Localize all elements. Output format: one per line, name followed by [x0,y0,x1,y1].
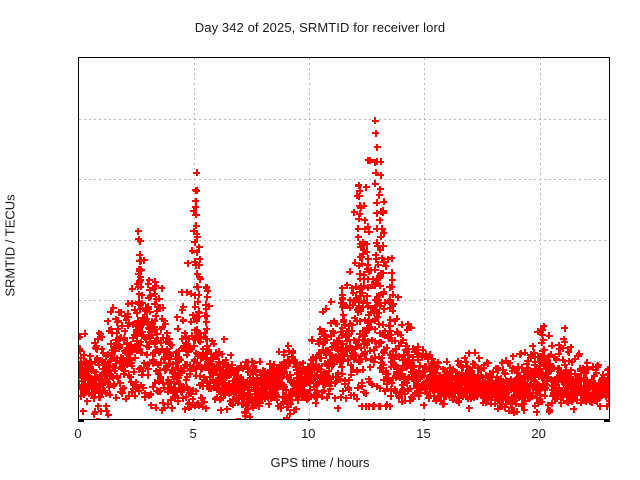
data-point [300,376,307,383]
data-point [476,383,483,390]
data-point [512,378,519,385]
data-point [147,293,154,300]
data-point [458,392,465,399]
data-point [537,357,544,364]
data-point [522,394,529,401]
data-point [519,379,526,386]
data-point [127,357,134,364]
data-point [479,386,486,393]
data-point [422,367,429,374]
data-point [414,356,421,363]
data-point [212,353,219,360]
data-point [253,381,260,388]
data-point [183,361,190,368]
data-point [177,380,184,387]
data-point [570,385,577,392]
data-point [266,377,273,384]
data-point [145,366,152,373]
data-point [107,308,114,315]
data-point [530,369,537,376]
data-point [380,209,387,216]
data-point [354,192,361,199]
data-point [526,382,533,389]
data-point [555,365,562,372]
data-point [481,384,488,391]
data-point [249,378,256,385]
data-point [536,385,543,392]
data-point [539,371,546,378]
data-point [260,367,267,374]
data-point [176,371,183,378]
data-point [426,365,433,372]
data-point [388,255,395,262]
data-point [455,358,462,365]
data-point [411,372,418,379]
data-point [105,411,112,418]
data-point [553,387,560,394]
data-point [304,363,311,370]
data-point [550,377,557,384]
data-point [193,315,200,322]
data-point [204,287,211,294]
data-point [472,377,479,384]
data-point [459,391,466,398]
data-point [236,418,243,420]
data-point [217,370,224,377]
data-point [195,308,202,315]
data-point [339,388,346,395]
data-point [599,378,606,385]
data-point [155,378,162,385]
data-point [453,376,460,383]
data-point [152,347,159,354]
data-point [189,312,196,319]
data-point [205,380,212,387]
data-point [148,328,155,335]
data-point [133,337,140,344]
data-point [138,332,145,339]
data-point [524,358,531,365]
data-point [600,379,607,386]
data-point [267,390,274,397]
data-point [87,381,94,388]
data-point [548,364,555,371]
data-point [356,306,363,313]
data-point [210,384,217,391]
data-point [355,295,362,302]
data-point [479,378,486,385]
data-point [311,364,318,371]
data-point [430,371,437,378]
data-point [137,274,144,281]
data-point [194,400,201,407]
x-tick-label: 5 [190,426,197,441]
data-point [445,388,452,395]
data-point [386,334,393,341]
data-point [135,281,142,288]
data-point [487,386,494,393]
data-point [380,376,387,383]
data-point [413,380,420,387]
data-point [592,380,599,387]
data-point [189,396,196,403]
data-point [364,266,371,273]
data-point [388,363,395,370]
data-point [521,379,528,386]
data-point [334,344,341,351]
data-point [368,355,375,362]
data-point [187,290,194,297]
data-point [548,342,555,349]
data-point [351,298,358,305]
data-point [255,403,262,410]
data-point [576,350,583,357]
plot-area [78,57,610,420]
data-point [588,377,595,384]
data-point [309,363,316,370]
data-point [357,308,364,315]
data-point [164,330,171,337]
data-point [193,187,200,194]
data-point [540,371,547,378]
data-point [601,385,608,392]
data-point [554,375,561,382]
data-point [450,382,457,389]
data-point [93,418,100,420]
data-point [372,316,379,323]
data-point [246,382,253,389]
data-point [172,356,179,363]
data-point [574,383,581,390]
data-point [121,337,128,344]
data-point [506,381,513,388]
data-point [360,389,367,396]
y-axis-label: SRMTID / TECUs [3,116,18,376]
data-point [592,397,599,404]
data-point [566,397,573,404]
data-point [595,393,602,400]
data-point [499,403,506,410]
data-point [553,356,560,363]
data-point [136,251,143,258]
data-point [504,393,511,400]
data-point [190,365,197,372]
data-point [557,373,564,380]
data-point [125,392,132,399]
data-point [332,395,339,402]
data-point [385,378,392,385]
data-point [360,340,367,347]
data-point [546,353,553,360]
data-point [242,412,249,419]
data-point [312,354,319,361]
data-point [539,383,546,390]
data-point [535,373,542,380]
data-point [535,387,542,394]
data-point [381,349,388,356]
data-point [296,389,303,396]
data-point [402,360,409,367]
data-point [596,387,603,394]
data-point [148,402,155,409]
data-point [262,376,269,383]
data-point [345,386,352,393]
data-point [438,389,445,396]
data-point [233,368,240,375]
data-point [193,372,200,379]
data-point [208,366,215,373]
data-point [313,361,320,368]
data-point [141,394,148,401]
data-point [96,418,103,420]
data-point [214,351,221,358]
data-point [85,366,92,373]
data-point [483,387,490,394]
data-point [387,322,394,329]
data-point [587,398,594,405]
data-point [292,384,299,391]
data-point [324,377,331,384]
data-point [355,225,362,232]
data-point [600,387,607,394]
data-point [444,369,451,376]
data-point [544,357,551,364]
data-point [164,348,171,355]
data-point [540,381,547,388]
data-point [370,403,377,410]
data-point [412,390,419,397]
data-point [576,377,583,384]
data-point [400,387,407,394]
data-point [138,349,145,356]
data-point [365,157,372,164]
data-point [476,379,483,386]
data-point [416,386,423,393]
data-point [171,380,178,387]
data-point [203,313,210,320]
data-point [448,394,455,401]
data-point [554,391,561,398]
data-point [377,233,384,240]
data-point [447,364,454,371]
data-point [476,385,483,392]
data-point [285,348,292,355]
data-point [436,378,443,385]
data-point [380,242,387,249]
data-point [349,285,356,292]
data-point [392,361,399,368]
data-point [323,352,330,359]
data-point [258,396,265,403]
data-point [79,382,83,389]
data-point [220,360,227,367]
data-point [569,398,576,405]
data-point [338,363,345,370]
data-point [254,374,261,381]
data-point [224,366,231,373]
data-point [505,395,512,402]
data-point [471,394,478,401]
data-point [393,371,400,378]
data-point [458,373,465,380]
data-point [281,384,288,391]
data-point [398,398,405,405]
data-point [561,339,568,346]
data-point [139,328,146,335]
data-point [198,394,205,401]
data-point [138,319,145,326]
data-point [154,361,161,368]
data-point [335,370,342,377]
data-point [276,348,283,355]
data-point [322,379,329,386]
data-point [134,342,141,349]
data-point [203,284,210,291]
data-point [234,395,241,402]
data-point [288,397,295,404]
data-point [87,381,94,388]
data-point [426,351,433,358]
data-point [155,349,162,356]
data-point [215,358,222,365]
data-point [147,308,154,315]
data-point [79,355,84,362]
data-point [540,381,547,388]
data-point [147,335,154,342]
data-point [361,276,368,283]
data-point [181,365,188,372]
data-point [406,385,413,392]
data-point [432,383,439,390]
data-point [376,340,383,347]
data-point [373,158,380,165]
data-point [238,383,245,390]
data-point [451,390,458,397]
data-point [509,398,516,405]
data-point [155,337,162,344]
data-point [365,320,372,327]
data-point [137,238,144,245]
data-point [469,372,476,379]
data-point [250,404,257,411]
data-point [528,354,535,361]
data-point [441,372,448,379]
data-point [497,383,504,390]
data-point [231,388,238,395]
data-point [189,387,196,394]
data-point [146,338,153,345]
data-point [533,380,540,387]
data-point [465,366,472,373]
data-point [200,383,207,390]
data-point [546,407,553,414]
data-point [124,350,131,357]
data-point [507,400,514,407]
data-point [97,394,104,401]
data-point [339,356,346,363]
data-point [133,320,140,327]
data-point [547,366,554,373]
data-point [259,389,266,396]
data-point [230,381,237,388]
data-point [186,399,193,406]
data-point [390,375,397,382]
data-point [259,390,266,397]
data-point [538,356,545,363]
data-point [191,336,198,343]
data-point [308,336,315,343]
data-point [606,398,609,405]
data-point [432,378,439,385]
data-point [176,355,183,362]
data-point [291,382,298,389]
data-point [590,392,597,399]
data-point [307,374,314,381]
data-point [272,393,279,400]
data-point [528,380,535,387]
data-point [225,380,232,387]
data-point [436,393,443,400]
data-point [83,384,90,391]
data-point [154,304,161,311]
data-point [499,359,506,366]
data-point [155,370,162,377]
data-point [138,365,145,372]
data-point [587,392,594,399]
data-point [407,364,414,371]
y-tick-mark [604,420,610,422]
data-point [517,391,524,398]
data-point [318,355,325,362]
data-point [539,374,546,381]
data-point [179,345,186,352]
data-point [372,354,379,361]
data-point [196,310,203,317]
x-tick-label: 15 [416,426,430,441]
data-point [596,394,603,401]
data-point [291,382,298,389]
data-point [387,316,394,323]
data-point [522,389,529,396]
data-point [310,354,317,361]
data-point [190,364,197,371]
data-point [314,338,321,345]
data-point [511,397,518,404]
data-point [283,404,290,411]
data-point [334,405,341,412]
data-point [306,386,313,393]
data-point [509,365,516,372]
data-point [510,396,517,403]
data-point [542,385,549,392]
data-point [263,390,270,397]
data-point [297,380,304,387]
data-point [523,372,530,379]
data-point [220,391,227,398]
data-point [406,358,413,365]
data-point [559,376,566,383]
data-point [447,382,454,389]
data-point [409,374,416,381]
data-point [446,384,453,391]
data-point [183,351,190,358]
data-point [453,397,460,404]
data-point [246,380,253,387]
data-point [168,341,175,348]
data-point [279,361,286,368]
data-point [374,314,381,321]
data-point [560,376,567,383]
